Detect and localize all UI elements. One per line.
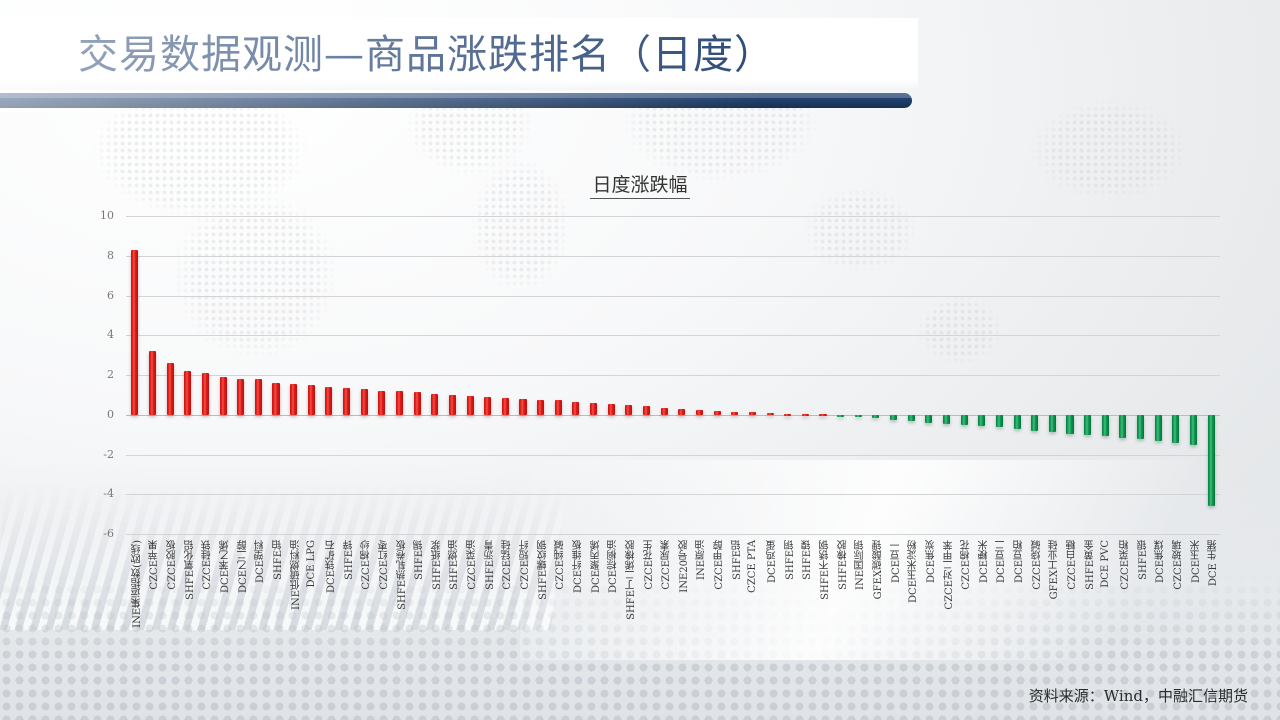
x-axis-tick-label: INE低硫燃料油 — [289, 540, 304, 610]
x-axis-tick-label: CZCE花生 — [642, 540, 657, 590]
chart-bar — [978, 415, 985, 427]
chart-bar — [837, 415, 844, 417]
x-axis-tick-label: CZCE PTA — [747, 540, 758, 593]
y-axis-tick-label: 0 — [54, 408, 124, 421]
x-axis-tick-label: CZCE锰硅 — [500, 540, 515, 590]
chart-bar — [184, 371, 191, 414]
chart-bar — [502, 398, 509, 415]
chart-bar — [555, 400, 562, 414]
chart-plot-area: 1086420-2-4-6 — [126, 216, 1220, 534]
x-axis-tick-label: DCE焦炭 — [924, 540, 939, 583]
x-axis-tick-label: GFEX碳酸锂 — [871, 540, 886, 599]
chart-bar — [414, 392, 421, 414]
chart-bar — [1172, 415, 1179, 443]
x-axis-tick-label: DCE PVC — [1100, 540, 1111, 588]
x-axis-tick-label: SHFE铂 — [271, 540, 286, 580]
x-axis-tick-label: CZCE纯碱 — [553, 540, 568, 590]
chart-bar — [943, 415, 950, 424]
x-axis-tick-label: CZCE棉纱 — [359, 540, 374, 590]
x-axis-tick-label: CZCE胶板 — [165, 540, 180, 590]
chart-bar — [361, 389, 368, 414]
x-axis-tick-label: SHFE橡胶 — [836, 540, 851, 590]
chart-bars — [126, 216, 1220, 534]
x-axis-tick-label: DCE乙二醇 — [236, 540, 251, 593]
chart-bar — [237, 379, 244, 415]
x-axis-tick-label: INE国际铜 — [853, 540, 868, 590]
chart-bar — [449, 395, 456, 415]
y-axis-tick-label: -2 — [54, 448, 124, 461]
chart-bar — [784, 414, 791, 416]
chart-bar — [572, 402, 579, 415]
x-axis-tick-label: DCE豆二 — [994, 540, 1009, 583]
chart-bar — [749, 412, 756, 414]
x-axis-tick-label: SHFE燃油 — [447, 540, 462, 590]
y-axis-tick-label: -4 — [54, 487, 124, 500]
chart-bar — [872, 415, 879, 418]
x-axis-tick-label: SHFE纸浆 — [430, 540, 445, 590]
x-axis-tick-label: SHFE锌 — [342, 540, 357, 580]
chart-bar — [819, 414, 826, 416]
page-title: 交易数据观测—商品涨跌排名（日度） — [78, 27, 775, 83]
x-axis-tick-label: DCE塑料 — [253, 540, 268, 583]
chart-bar — [696, 410, 703, 415]
y-axis-tick-label: 6 — [54, 289, 124, 302]
chart-bar — [149, 351, 156, 415]
chart-bar — [890, 415, 897, 420]
x-axis-tick-label: SHFE丁二烯橡胶 — [624, 540, 639, 620]
x-axis-tick-label: SHFE黄金 — [1083, 540, 1098, 590]
x-axis-tick-label: CZCE红枣 — [377, 540, 392, 590]
x-axis-tick-label: SHFE热轧卷板 — [395, 540, 410, 610]
chart-bar — [1066, 415, 1073, 434]
x-axis-tick-label: CZCE尿素 — [659, 540, 674, 590]
x-axis-tick-label: SHFE锡 — [412, 540, 427, 580]
x-axis-tick-label: INE原油 — [694, 540, 709, 580]
chart-bar — [167, 363, 174, 415]
chart-title: 日度涨跌幅 — [0, 170, 1280, 197]
x-axis-tick-label: CZCE烧碱 — [1030, 540, 1045, 590]
chart-bar — [1155, 415, 1162, 441]
chart-bar — [343, 388, 350, 414]
chart-bar — [1190, 415, 1197, 445]
chart-bar — [1031, 415, 1038, 431]
chart-title-text: 日度涨跌幅 — [590, 174, 689, 199]
x-axis-tick-label: CZCE白糖 — [1065, 540, 1080, 590]
x-axis-tick-label: DCE棕榈油 — [606, 540, 621, 593]
chart-bar — [537, 400, 544, 415]
chart-bar — [467, 396, 474, 415]
x-axis-tick-label: SHFE不锈钢 — [818, 540, 833, 600]
x-axis-tick-label: INE集运指数(欧线) — [130, 540, 145, 628]
chart-bar — [484, 397, 491, 415]
chart-bar — [608, 404, 615, 415]
x-axis-tick-label: CZCE对二甲苯 — [942, 540, 957, 610]
x-axis-tick-label: SHFE铜 — [783, 540, 798, 580]
x-axis-tick-label: DCE苯乙烯 — [218, 540, 233, 593]
y-axis-tick-label: 2 — [54, 368, 124, 381]
chart-bar — [678, 409, 685, 415]
x-axis-tick-label: SHFE银 — [1136, 540, 1151, 580]
chart-bar — [1049, 415, 1056, 432]
x-axis-tick-label: DCE豆一 — [889, 540, 904, 583]
chart-bar — [1208, 415, 1215, 506]
x-axis-tick-label: SHFE氧化铝 — [183, 540, 198, 600]
x-axis-tick-label: DCE 生猪 — [1206, 540, 1221, 586]
chart-bar — [908, 415, 915, 421]
chart-bar — [802, 414, 809, 416]
x-axis-tick-label: GFEX工业硅 — [1047, 540, 1062, 599]
x-axis-tick-label: DCE焦煤 — [1153, 540, 1168, 583]
chart-bar — [925, 415, 932, 423]
chart-bar — [308, 385, 315, 415]
x-axis-tick-label: DCE豆粕 — [1012, 540, 1027, 583]
x-axis-tick-label: CZCE短纤 — [518, 540, 533, 590]
y-axis-tick-label: 10 — [54, 209, 124, 222]
gridline — [126, 534, 1220, 535]
title-underline-bar — [0, 93, 912, 108]
x-axis-tick-label: DCE玉米 — [1189, 540, 1204, 583]
x-axis-tick-label: SHFE螺纹钢 — [536, 540, 551, 600]
y-axis-tick-label: -6 — [54, 527, 124, 540]
x-axis-tick-label: CZCE菜粕 — [1118, 540, 1133, 590]
x-axis-tick-label: SHFE铝 — [730, 540, 745, 580]
chart-bar — [378, 391, 385, 415]
chart-bar — [325, 387, 332, 415]
x-axis-tick-label: SHFE镍 — [800, 540, 815, 580]
chart-bar — [714, 411, 721, 415]
x-axis-tick-label: CZCE菜油 — [465, 540, 480, 590]
chart-bar — [643, 406, 650, 414]
x-axis-tick-label: DCE鸡蛋 — [765, 540, 780, 583]
y-axis-tick-label: 4 — [54, 328, 124, 341]
chart-bar — [1102, 415, 1109, 436]
chart-bar — [202, 373, 209, 415]
slide-header: 交易数据观测—商品涨跌排名（日度） — [0, 0, 1280, 112]
chart-container: 日度涨跌幅 1086420-2-4-6 INE集运指数(欧线)CZCE苹果CZC… — [0, 112, 1280, 672]
x-axis-tick-label: DCE玉米淀粉 — [906, 540, 921, 603]
chart-bar — [431, 394, 438, 415]
chart-bar — [661, 408, 668, 415]
x-axis-tick-label: DCE纤维板 — [571, 540, 586, 593]
chart-x-axis-labels: INE集运指数(欧线)CZCE苹果CZCE胶板SHFE氧化铝CZCE硅铁DCE苯… — [126, 540, 1220, 680]
chart-bar — [625, 405, 632, 415]
chart-bar — [255, 379, 262, 414]
x-axis-tick-label: DCE粳米 — [977, 540, 992, 583]
chart-bar — [590, 403, 597, 415]
x-axis-tick-label: CZCE硅铁 — [200, 540, 215, 590]
chart-bar — [1137, 415, 1144, 439]
x-axis-tick-label: CZCE棉花 — [959, 540, 974, 590]
chart-bar — [272, 383, 279, 415]
source-note: 资料来源：Wind，中融汇信期货 — [1029, 685, 1248, 706]
chart-bar — [961, 415, 968, 425]
chart-bar — [396, 391, 403, 414]
chart-bar — [1119, 415, 1126, 438]
chart-bar — [290, 384, 297, 415]
chart-bar — [220, 377, 227, 414]
x-axis-tick-label: CZCE苹果 — [147, 540, 162, 590]
chart-bar — [731, 412, 738, 415]
x-axis-tick-label: DCE聚丙烯 — [589, 540, 604, 593]
chart-bar — [1014, 415, 1021, 429]
x-axis-tick-label: DCE铁矿石 — [324, 540, 339, 593]
chart-bar — [855, 415, 862, 417]
x-axis-tick-label: SHFE沥青 — [483, 540, 498, 590]
chart-bar — [131, 250, 138, 415]
x-axis-tick-label: INE20号胶 — [677, 540, 692, 593]
x-axis-tick-label: CZCE甲醇 — [712, 540, 727, 590]
y-axis-tick-label: 8 — [54, 249, 124, 262]
x-axis-tick-label: DCE LPG — [306, 540, 317, 588]
x-axis-tick-label: CZCE玻璃 — [1171, 540, 1186, 590]
chart-bar — [767, 413, 774, 415]
chart-bar — [996, 415, 1003, 428]
chart-bar — [1084, 415, 1091, 435]
chart-bar — [519, 399, 526, 415]
